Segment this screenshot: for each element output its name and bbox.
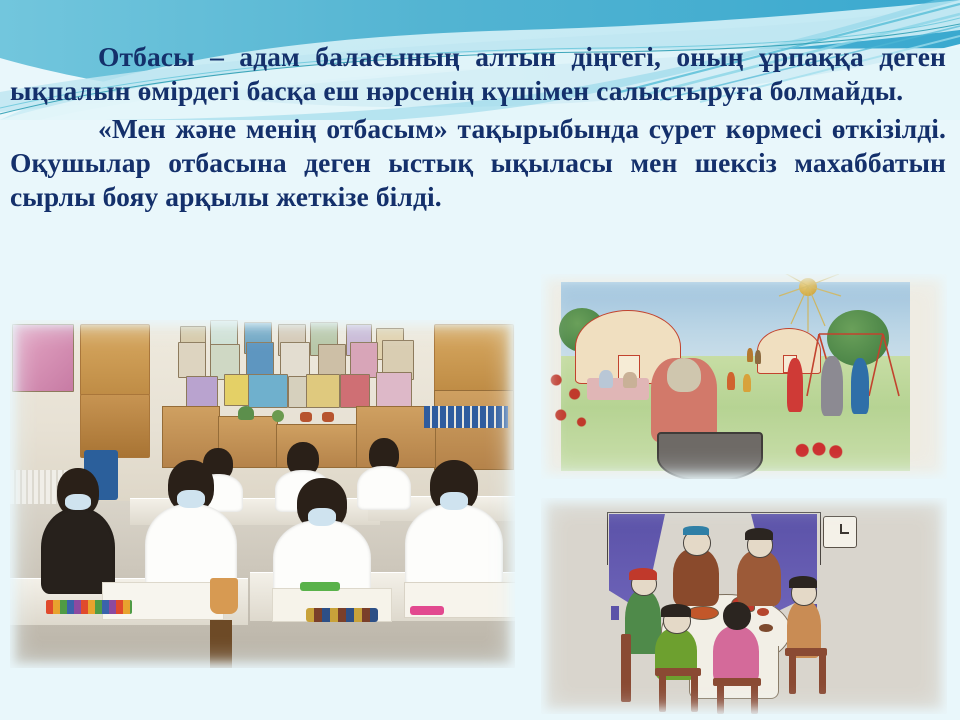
- chair: [621, 634, 631, 702]
- child-figure: [727, 372, 735, 390]
- yurt-drawing-scene: [541, 274, 947, 479]
- chair-leg: [751, 684, 758, 714]
- pencil-cup: [210, 578, 238, 614]
- seated-figure: [599, 370, 613, 388]
- student: [404, 460, 504, 586]
- figure-child-center: [713, 626, 759, 684]
- potted-plant: [322, 412, 334, 422]
- wall-art: [340, 374, 370, 408]
- shelf-right: [434, 390, 514, 470]
- wall-poster-pink: [12, 324, 74, 392]
- figure-man-blue: [851, 358, 869, 414]
- child-figure: [755, 350, 761, 364]
- paragraph-two: «Мен және менің отбасым» тақырыбында сур…: [10, 112, 946, 214]
- child-figure: [743, 374, 751, 392]
- chair-leg: [819, 654, 826, 694]
- cook-head: [667, 358, 701, 392]
- photo-yurt-drawing: [541, 274, 947, 479]
- photo-family-drawing: [541, 498, 947, 714]
- small-dish: [759, 624, 773, 632]
- binder-row: [424, 406, 508, 428]
- paint-palette: [306, 608, 378, 622]
- seated-figure: [623, 372, 637, 388]
- curtain-tassel-left: [611, 606, 619, 620]
- chair-leg: [659, 674, 666, 712]
- slide-canvas: Отбасы – адам баласының алтын діңгегі, о…: [0, 0, 960, 720]
- flowers-left: [547, 366, 593, 436]
- wall-art: [186, 376, 218, 408]
- plate-of-food: [687, 606, 719, 620]
- wall-art: [350, 342, 378, 378]
- wall-art: [306, 374, 340, 408]
- cabinet-left-lower: [80, 394, 150, 458]
- wall-clock-icon: [823, 516, 857, 548]
- tulips: [791, 442, 847, 470]
- photo-classroom: [10, 320, 515, 668]
- cabinet-right: [434, 324, 514, 392]
- desk-leg: [210, 620, 232, 668]
- child-figure: [747, 348, 753, 362]
- student: [272, 478, 372, 598]
- chair-leg: [691, 674, 698, 712]
- cabinet-left: [80, 324, 150, 396]
- chair-leg: [717, 684, 724, 714]
- paragraph-one: Отбасы – адам баласының алтын діңгегі, о…: [10, 40, 946, 108]
- figure-woman-red: [787, 358, 803, 412]
- classroom-scene: [10, 320, 515, 668]
- figure-mother: [737, 550, 781, 606]
- marker: [300, 582, 340, 591]
- small-dish: [757, 608, 769, 616]
- student: [40, 468, 116, 588]
- figure-father: [673, 548, 719, 606]
- picnic-mat: [587, 378, 649, 400]
- potted-plant: [300, 412, 312, 422]
- chair-leg: [789, 654, 796, 694]
- student: [144, 460, 238, 588]
- wall-art: [280, 342, 310, 378]
- family-drawing-scene: [541, 498, 947, 714]
- potted-plant: [272, 410, 284, 422]
- marker: [410, 606, 444, 615]
- figure-man-grey: [821, 356, 843, 416]
- wall-art: [248, 374, 288, 408]
- potted-plant: [238, 406, 254, 420]
- kazan-pot: [657, 432, 763, 479]
- slide-text-block: Отбасы – адам баласының алтын діңгегі, о…: [0, 40, 960, 214]
- crayon-set: [46, 600, 132, 614]
- wall-art: [178, 342, 206, 378]
